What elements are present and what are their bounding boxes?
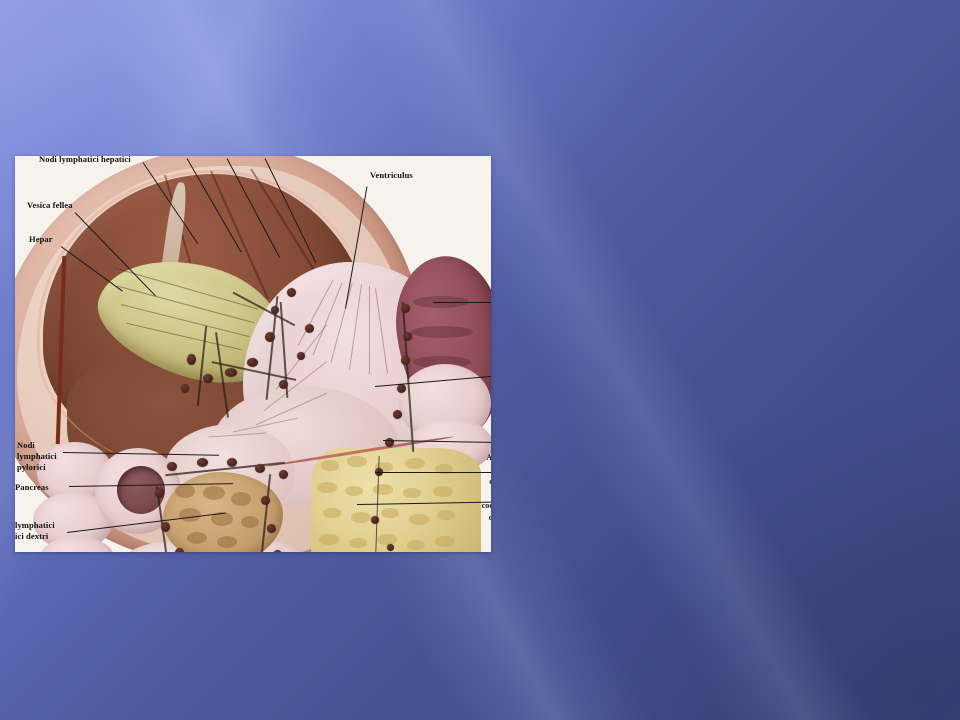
fat-lobule — [403, 488, 421, 498]
lymph-node-gastric — [271, 306, 279, 314]
slide-title: Лимфоотток от желудка — [0, 22, 960, 90]
lymph-node-gastroepiploic — [397, 384, 406, 393]
slide-canvas: Лимфоотток от желудка — [0, 0, 960, 720]
lymph-node-gastroepiploic — [401, 304, 410, 313]
lymph-node-celiac — [225, 368, 237, 377]
figure-label-hepar: Hepar — [29, 234, 53, 245]
fat-lobule — [323, 508, 341, 518]
fat-lobule — [373, 484, 393, 495]
lymph-node-pyloric — [155, 488, 164, 498]
fat-lobule — [381, 508, 399, 518]
figure-label-russian-caption: Ан л со и сосу об — [467, 452, 491, 524]
spleen-notch-2 — [411, 326, 473, 338]
lymph-node-pyloric — [227, 458, 237, 467]
fat-lobule — [319, 534, 339, 545]
pancreas-lobule — [241, 516, 259, 528]
fat-lobule — [409, 514, 429, 525]
figure-label-nodi-lymphatici-hepatici: Nodi lymphatici hepatici — [39, 156, 131, 165]
lymph-node-hepatic — [187, 354, 196, 365]
anatomy-image[interactable]: Nodi lymphatici hepatici Vesica fellea H… — [15, 156, 491, 552]
lymph-node-pyloric — [161, 522, 170, 532]
lymph-node-gastroepiploic — [403, 332, 412, 341]
fat-lobule — [435, 536, 455, 547]
lymph-node-gastroepiploic — [401, 356, 410, 365]
lymph-node-gastric — [297, 352, 305, 360]
lymph-node-omental — [387, 544, 394, 551]
pancreas-lobule — [203, 486, 225, 500]
lymph-node-pyloric — [279, 470, 288, 479]
anatomy-illustration-canvas: Nodi lymphatici hepatici Vesica fellea H… — [15, 156, 491, 552]
fat-lobule — [321, 460, 339, 471]
lymph-node-gastric-dextri — [267, 524, 276, 533]
lymph-node-pyloric — [197, 458, 208, 467]
lymph-node-gastric — [279, 380, 288, 389]
figure-label-pancreas: Pancreas — [15, 482, 49, 493]
pancreas-lobule — [217, 536, 237, 548]
lymph-node-gastric — [287, 288, 296, 297]
fat-lobule — [377, 534, 397, 545]
fat-lobule — [347, 456, 367, 467]
lymph-node-hepatic — [181, 384, 189, 393]
leader-line-right-1 — [433, 302, 491, 303]
fat-lobule — [433, 486, 453, 497]
fat-lobule — [345, 486, 363, 496]
lymph-node-pyloric — [175, 548, 184, 552]
lymph-node-gastric-dextri — [273, 550, 282, 552]
fat-lobule — [317, 482, 337, 493]
fat-lobule — [437, 510, 455, 520]
fat-lobule — [349, 538, 367, 548]
fat-lobule — [405, 458, 425, 469]
figure-label-nodi-lymphatici-pylorici: Nodi lymphatici pylorici — [17, 440, 57, 473]
pancreas-lobule — [175, 484, 195, 498]
lymph-node-omental — [371, 516, 379, 524]
figure-label-vesica-fellea: Vesica fellea — [27, 200, 73, 211]
lymph-node-pyloric — [167, 462, 177, 471]
gastric-serosa-vessel — [369, 286, 370, 374]
lymph-node-pyloric — [255, 464, 265, 473]
fat-lobule — [407, 540, 425, 550]
lymph-node-gastric — [265, 332, 275, 342]
lymph-node-celiac — [203, 374, 213, 383]
fat-lobule — [351, 512, 371, 523]
figure-label-ventriculus: Ventriculus — [370, 170, 413, 181]
pancreas-lobule — [231, 492, 251, 506]
pancreas-lobule — [187, 532, 207, 544]
lymph-node-gastric-dextri — [261, 496, 270, 505]
lymph-node-celiac — [247, 358, 258, 367]
figure-label-nodi-lymphatici-gastrici-dextri: lymphatici ici dextri — [15, 520, 55, 542]
lymph-node-gastric — [305, 324, 314, 333]
lymph-node-gastroepiploic — [393, 410, 402, 419]
